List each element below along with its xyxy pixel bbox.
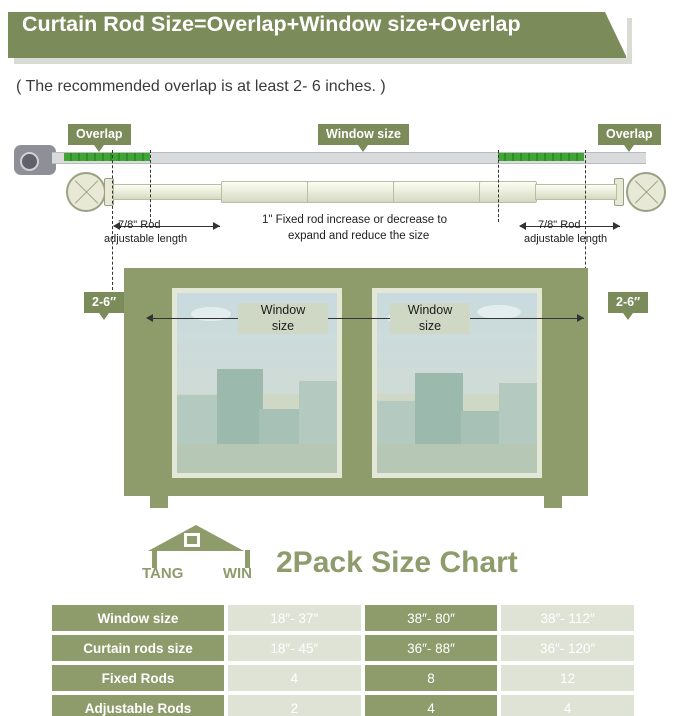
window-label-left-line2: size — [272, 319, 294, 333]
row-value: 8 — [365, 665, 498, 691]
table-row: Adjustable Rods 2 4 4 — [52, 695, 634, 716]
flag-window-size: Window size — [318, 124, 409, 145]
flag-overlap-range-left: 2-6″ — [84, 292, 124, 313]
row-value: 38″- 112″ — [501, 605, 634, 631]
flag-overlap-right: Overlap — [598, 124, 661, 145]
flag-overlap-range-right: 2-6″ — [608, 292, 648, 313]
size-chart-table: Window size 18″- 37″ 38″- 80″ 38″- 112″ … — [48, 601, 638, 716]
tape-overlap-left-segment — [64, 153, 150, 161]
row-value: 18″- 45″ — [228, 635, 361, 661]
window-measure-line — [148, 318, 584, 319]
measure-arrow-right-end — [613, 222, 620, 230]
tape-measure-icon — [14, 145, 56, 175]
window-leg-left — [150, 496, 168, 508]
row-value: 12 — [501, 665, 634, 691]
window-measure-arrow-right — [577, 314, 584, 322]
window-leg-right — [544, 496, 562, 508]
row-label: Adjustable Rods — [52, 695, 224, 716]
brand-logo: TANG WIN — [122, 525, 272, 585]
window-label-right: Window size — [390, 303, 470, 334]
guide-dash-left-outer — [112, 150, 113, 290]
row-label: Window size — [52, 605, 224, 631]
page-subtitle: ( The recommended overlap is at least 2-… — [16, 78, 386, 96]
window-illustration — [124, 268, 588, 508]
flag-overlap-left: Overlap — [68, 124, 131, 145]
caption-center-line2: expand and reduce the size — [288, 229, 429, 245]
row-value: 36″- 120″ — [501, 635, 634, 661]
finial-right-icon — [626, 172, 666, 212]
tape-overlap-right-segment — [498, 153, 584, 161]
caption-adjustable-left-line1: 7/8" Rod — [118, 219, 160, 233]
caption-center-line1: 1" Fixed rod increase or decrease to — [262, 213, 447, 229]
window-measure-arrow-left — [146, 314, 153, 322]
rod-fixed-segment-3 — [393, 181, 481, 203]
cloud-icon — [477, 305, 521, 319]
size-chart-title: 2Pack Size Chart — [276, 546, 518, 580]
logo-window-icon — [184, 533, 200, 547]
rod-adjustable-left — [113, 184, 223, 200]
measure-arrow-left-end — [213, 222, 220, 230]
measure-arrow-right-start — [519, 222, 526, 230]
pane-right-ground — [377, 444, 537, 473]
row-value: 38″- 80″ — [365, 605, 498, 631]
row-value: 36″- 88″ — [365, 635, 498, 661]
caption-adjustable-right-line2: adjustable length — [524, 233, 607, 247]
table-row: Curtain rods size 18″- 45″ 36″- 88″ 36″-… — [52, 635, 634, 661]
logo-text-right: WIN — [223, 565, 252, 582]
pane-left-ground — [177, 444, 337, 473]
row-value: 2 — [228, 695, 361, 716]
row-value: 18″- 37″ — [228, 605, 361, 631]
window-label-left: Window size — [238, 303, 328, 334]
rod-fixed-segment-2 — [307, 181, 395, 203]
table-row: Fixed Rods 4 8 12 — [52, 665, 634, 691]
rod-fixed-segment-4 — [479, 181, 537, 203]
poster-root: Curtain Rod Size=Overlap+Window size+Ove… — [0, 0, 679, 716]
rod-adjustable-right — [535, 184, 617, 200]
page-title: Curtain Rod Size=Overlap+Window size+Ove… — [22, 12, 622, 37]
row-value: 4 — [501, 695, 634, 716]
table-row: Window size 18″- 37″ 38″- 80″ 38″- 112″ — [52, 605, 634, 631]
guide-dash-right-inner — [498, 150, 499, 222]
rod-fixed-segment-1 — [221, 181, 309, 203]
row-label: Fixed Rods — [52, 665, 224, 691]
window-label-right-line2: size — [419, 319, 441, 333]
finial-left-icon — [66, 172, 106, 212]
row-value: 4 — [228, 665, 361, 691]
window-label-left-line1: Window — [261, 303, 305, 317]
row-value: 4 — [365, 695, 498, 716]
logo-wordmark: TANG WIN — [142, 565, 252, 582]
row-label: Curtain rods size — [52, 635, 224, 661]
caption-adjustable-right-line1: 7/8" Rod — [538, 219, 580, 233]
window-label-right-line1: Window — [408, 303, 452, 317]
caption-adjustable-left-line2: adjustable length — [104, 233, 187, 247]
logo-text-left: TANG — [142, 565, 183, 582]
guide-dash-left-inner — [150, 150, 151, 222]
